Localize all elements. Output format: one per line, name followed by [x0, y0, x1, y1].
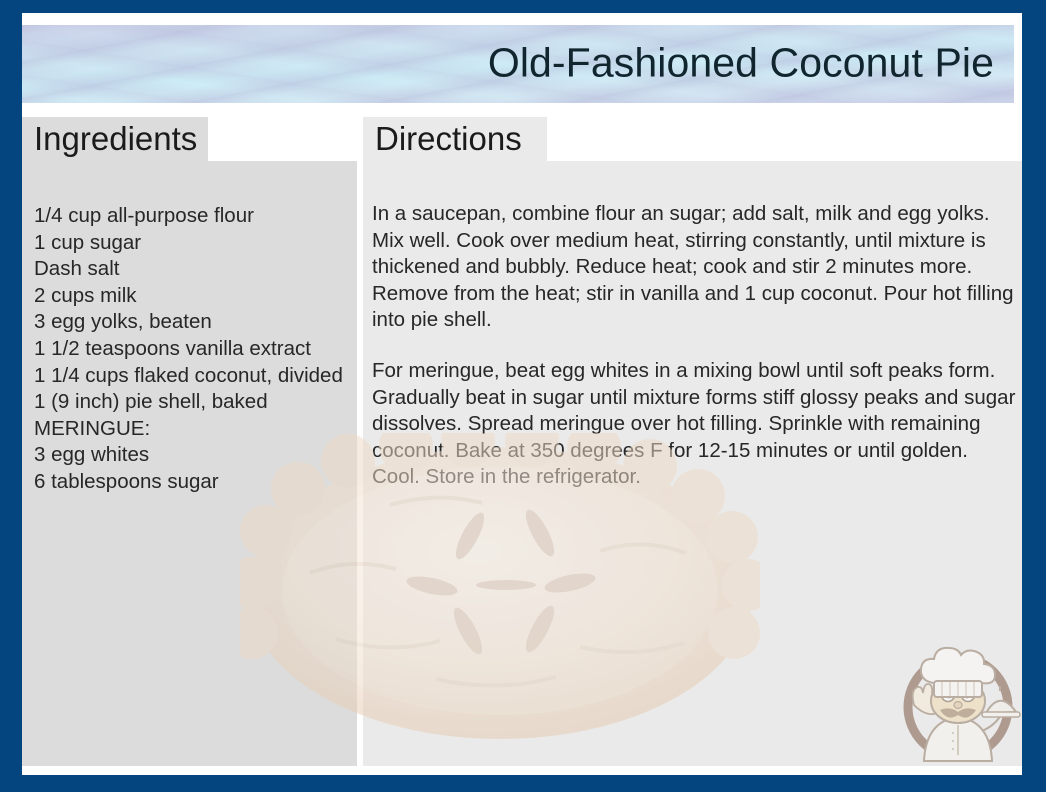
directions-heading-notch [547, 117, 1022, 161]
ingredient-item: 1 cup sugar [34, 230, 364, 257]
direction-paragraph: In a saucepan, combine flour an sugar; a… [372, 201, 1020, 334]
recipe-card: Old-Fashioned Coconut Pie Ingredients 1/… [0, 0, 1046, 792]
ingredient-item: 3 egg whites [34, 442, 364, 469]
ingredients-heading: Ingredients [34, 117, 197, 161]
ingredient-item: Dash salt [34, 256, 364, 283]
ingredients-panel: Ingredients 1/4 cup all-purpose flour1 c… [22, 117, 357, 766]
direction-paragraph: For meringue, beat egg whites in a mixin… [372, 358, 1020, 491]
title-banner: Old-Fashioned Coconut Pie [22, 25, 1014, 103]
ingredients-list: 1/4 cup all-purpose flour1 cup sugarDash… [34, 203, 364, 496]
ingredients-heading-notch [208, 117, 357, 161]
ingredient-item: 6 tablespoons sugar [34, 469, 364, 496]
directions-text: In a saucepan, combine flour an sugar; a… [372, 201, 1020, 491]
ingredient-item: 1/4 cup all-purpose flour [34, 203, 364, 230]
directions-panel: Directions In a saucepan, combine flour … [363, 117, 1022, 766]
ingredient-item: 1 1/4 cups flaked coconut, divided [34, 363, 364, 390]
ingredient-item: 2 cups milk [34, 283, 364, 310]
card-inner-area: Old-Fashioned Coconut Pie Ingredients 1/… [22, 13, 1022, 775]
ingredient-item: 3 egg yolks, beaten [34, 309, 364, 336]
page-title: Old-Fashioned Coconut Pie [488, 40, 994, 87]
ingredient-item: 1 (9 inch) pie shell, baked [34, 389, 364, 416]
ingredient-item: MERINGUE: [34, 416, 364, 443]
ingredient-item: 1 1/2 teaspoons vanilla extract [34, 336, 364, 363]
directions-heading: Directions [375, 117, 522, 161]
